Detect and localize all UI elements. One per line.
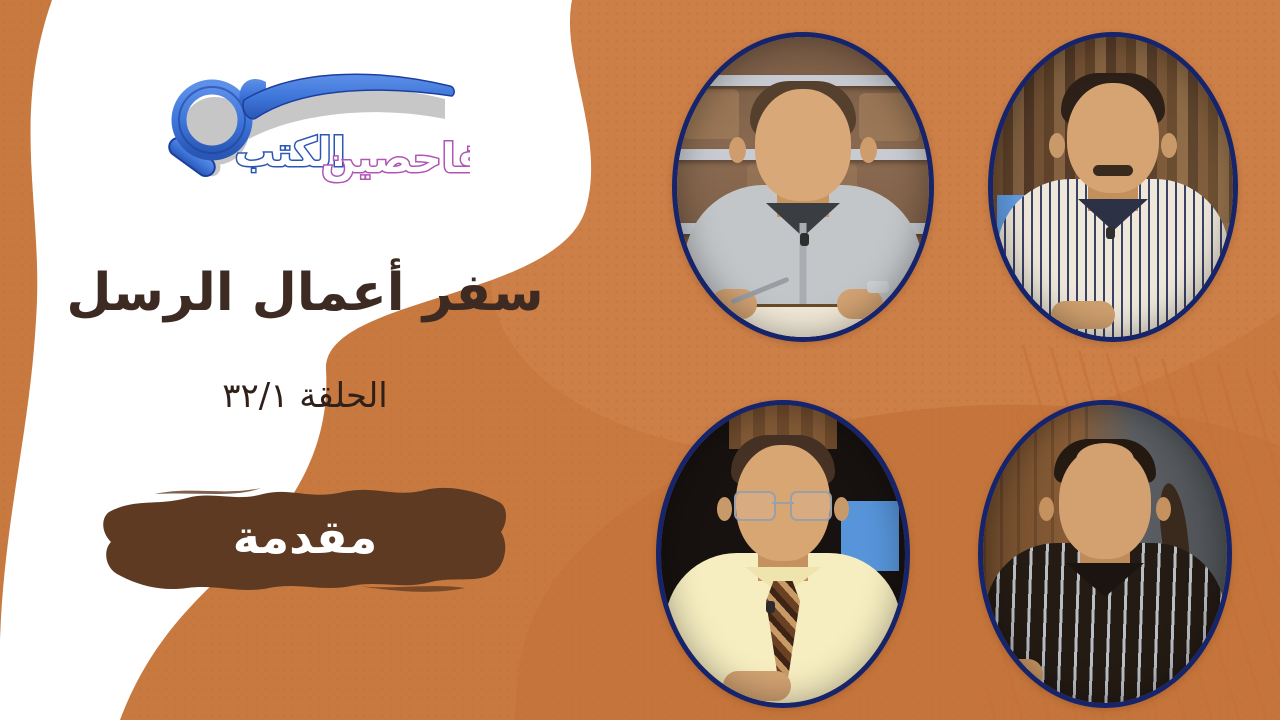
episode-label: الحلقة ٣٢/١ (222, 376, 388, 416)
portrait-bottom-left[interactable] (656, 400, 910, 708)
portrait-top-left[interactable] (672, 32, 934, 342)
portrait-bottom-right[interactable] (978, 400, 1232, 708)
portrait-top-right[interactable] (988, 32, 1238, 342)
badge-label: مقدمة (95, 472, 515, 602)
section-badge: مقدمة (95, 472, 515, 602)
left-column: الكتب فاحصين سفر أعمال الرسل الحلقة ٣٢/١… (0, 0, 610, 720)
title-card: الكتب فاحصين سفر أعمال الرسل الحلقة ٣٢/١… (0, 0, 1280, 720)
show-logo[interactable]: الكتب فاحصين (140, 62, 470, 202)
page-title: سفر أعمال الرسل (66, 264, 543, 324)
svg-text:فاحصين: فاحصين (321, 136, 470, 182)
